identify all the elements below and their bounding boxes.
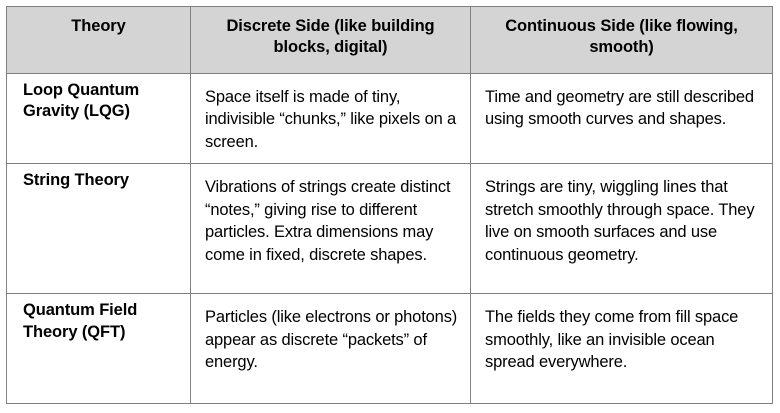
theory-label: String Theory bbox=[23, 170, 182, 191]
table-body: Loop Quantum Gravity (LQG) Space itself … bbox=[7, 74, 773, 404]
document-page: Theory Discrete Side (like building bloc… bbox=[0, 0, 780, 413]
table-row: String Theory Vibrations of strings crea… bbox=[7, 164, 773, 294]
cell-discrete-side: Space itself is made of tiny, indivisibl… bbox=[191, 74, 471, 164]
cell-theory-name: Loop Quantum Gravity (LQG) bbox=[7, 74, 191, 164]
discrete-description: Space itself is made of tiny, indivisibl… bbox=[205, 86, 458, 153]
cell-continuous-side: The fields they come from fill space smo… bbox=[471, 294, 773, 404]
cell-theory-name: String Theory bbox=[7, 164, 191, 294]
table-header: Theory Discrete Side (like building bloc… bbox=[7, 7, 773, 74]
column-header-discrete: Discrete Side (like building blocks, dig… bbox=[191, 7, 471, 74]
column-header-theory: Theory bbox=[7, 7, 191, 74]
table-row: Quantum Field Theory (QFT) Particles (li… bbox=[7, 294, 773, 404]
theory-label: Loop Quantum Gravity (LQG) bbox=[23, 80, 182, 123]
cell-discrete-side: Particles (like electrons or photons) ap… bbox=[191, 294, 471, 404]
cell-continuous-side: Time and geometry are still described us… bbox=[471, 74, 773, 164]
cell-discrete-side: Vibrations of strings create distinct “n… bbox=[191, 164, 471, 294]
discrete-description: Vibrations of strings create distinct “n… bbox=[205, 176, 458, 266]
discrete-description: Particles (like electrons or photons) ap… bbox=[205, 306, 458, 373]
table-row: Loop Quantum Gravity (LQG) Space itself … bbox=[7, 74, 773, 164]
column-header-continuous: Continuous Side (like flowing, smooth) bbox=[471, 7, 773, 74]
theory-comparison-table: Theory Discrete Side (like building bloc… bbox=[6, 6, 773, 404]
continuous-description: Time and geometry are still described us… bbox=[485, 86, 760, 131]
continuous-description: Strings are tiny, wiggling lines that st… bbox=[485, 176, 760, 266]
cell-continuous-side: Strings are tiny, wiggling lines that st… bbox=[471, 164, 773, 294]
continuous-description: The fields they come from fill space smo… bbox=[485, 306, 760, 373]
table-header-row: Theory Discrete Side (like building bloc… bbox=[7, 7, 773, 74]
cell-theory-name: Quantum Field Theory (QFT) bbox=[7, 294, 191, 404]
theory-label: Quantum Field Theory (QFT) bbox=[23, 300, 182, 343]
